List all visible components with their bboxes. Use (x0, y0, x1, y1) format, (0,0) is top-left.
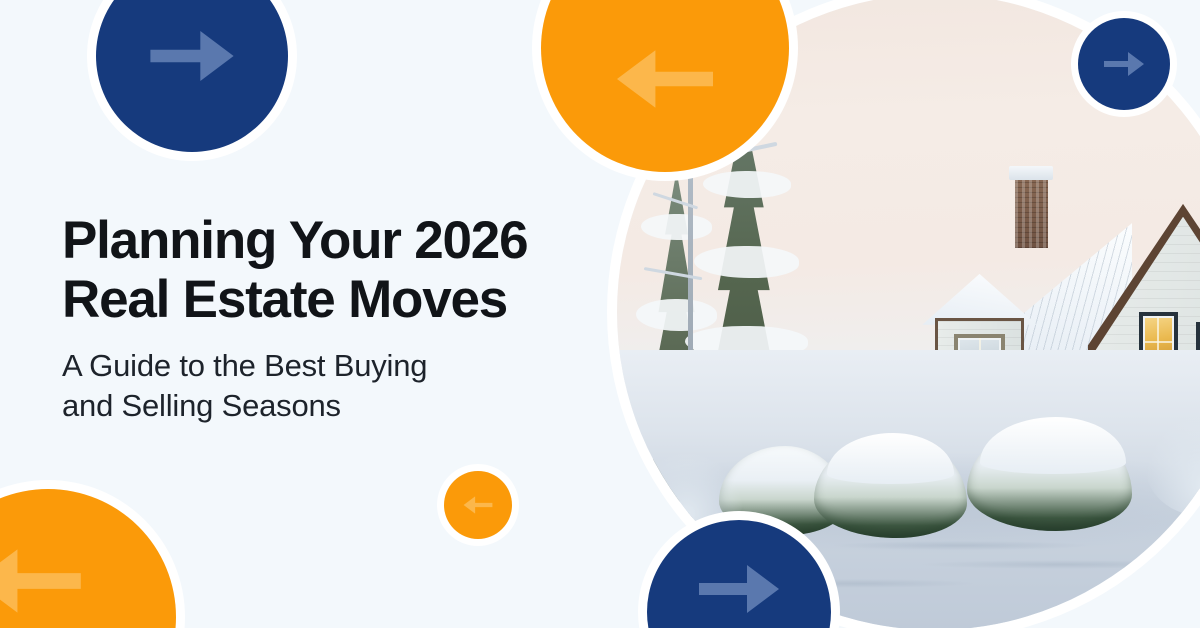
banner-text-block: Planning Your 2026 Real Estate Moves A G… (62, 212, 602, 426)
circle-orange-small-center (444, 471, 512, 539)
circle-navy-top-right (1078, 18, 1170, 110)
chimney (1015, 172, 1048, 248)
circle-navy-top-left (96, 0, 288, 152)
snow-drift-track (922, 560, 1200, 569)
arrow-right-icon (689, 539, 789, 628)
arrow-left-icon (605, 19, 725, 139)
snow-drift-track (833, 541, 1087, 550)
banner-canvas: Planning Your 2026 Real Estate Moves A G… (0, 0, 1200, 628)
arrow-left-icon (0, 515, 94, 628)
circle-orange-bottom-left (0, 489, 176, 628)
arrow-right-icon (1099, 39, 1149, 89)
page-subtitle: A Guide to the Best Buying and Selling S… (62, 346, 602, 427)
arrow-left-icon (460, 487, 496, 523)
page-title: Planning Your 2026 Real Estate Moves (62, 212, 602, 330)
dormer-roof (922, 274, 1036, 325)
chimney-snow-cap (1009, 166, 1054, 180)
arrow-right-icon (140, 4, 244, 108)
